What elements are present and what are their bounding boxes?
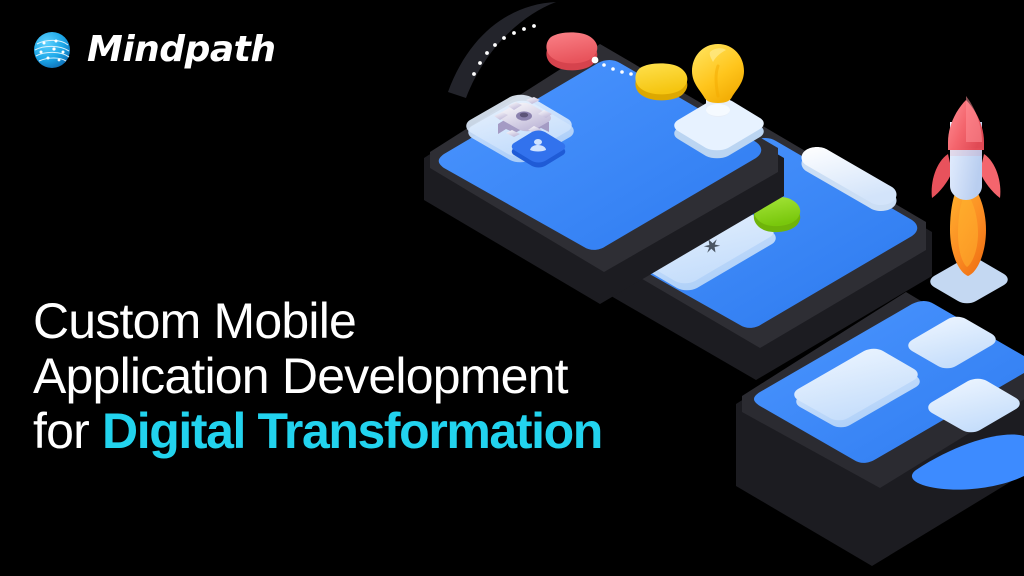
headline-line-2: Application Development (33, 349, 693, 404)
globe-network-icon (30, 28, 74, 72)
password-asterisks (654, 208, 722, 256)
lightbulb-icon (692, 44, 744, 117)
rocket-icon (930, 96, 1008, 303)
blob-red (546, 32, 597, 70)
pill-bar (802, 147, 897, 211)
brand-name: Mindpath (87, 32, 275, 68)
gear-icon (494, 97, 552, 137)
blob-green (754, 197, 800, 232)
headline-line-1: Custom Mobile (33, 294, 693, 349)
page-title: Custom Mobile Application Development fo… (33, 294, 693, 459)
dotted-connector-2 (742, 127, 756, 194)
lightbulb-pedestal (674, 99, 764, 159)
slide-canvas: Mindpath Custom Mobile Application Devel… (0, 0, 1024, 576)
headline-accent: Digital Transformation (102, 403, 602, 459)
brand-logo[interactable]: Mindpath (30, 28, 275, 72)
phone-top (424, 32, 784, 304)
user-icon (512, 131, 566, 168)
headline-line-3: for Digital Transformation (33, 404, 693, 459)
hero-illustration (0, 0, 1024, 576)
headline-prefix: for (33, 403, 102, 459)
blob-yellow (635, 63, 687, 100)
phone-bottom (736, 292, 1024, 566)
dotted-connector-1 (592, 57, 654, 78)
swoosh-arc (448, 2, 556, 98)
